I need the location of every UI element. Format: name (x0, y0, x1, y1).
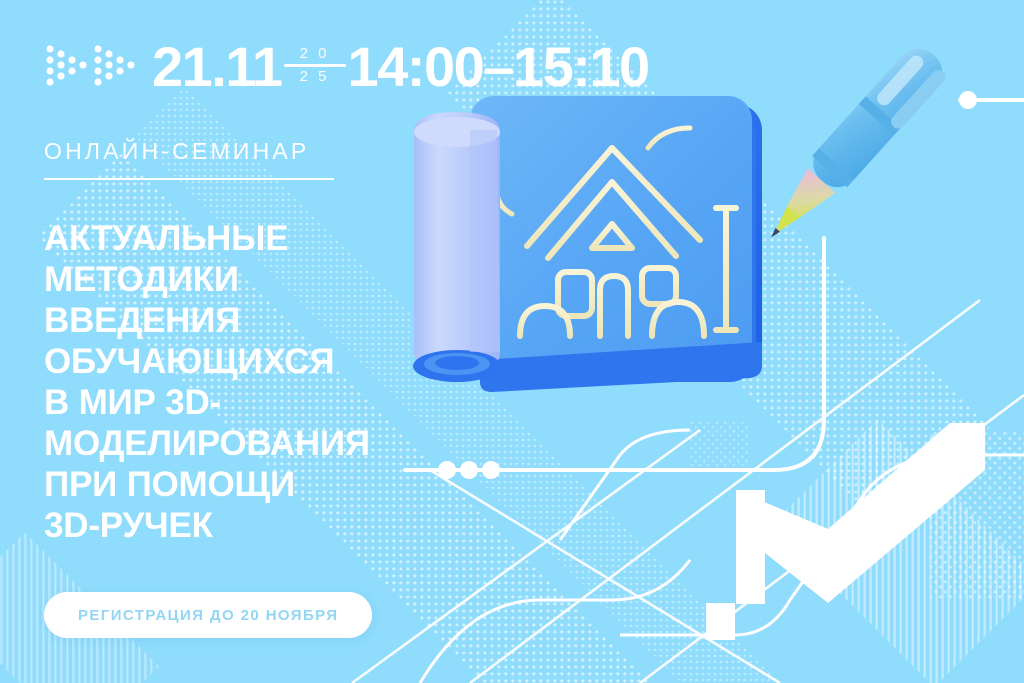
event-year-fraction: 2 0 2 5 (284, 45, 346, 85)
headline-line: АКТУАЛЬНЫЕ (44, 219, 464, 260)
headline-line: ПРИ ПОМОЩИ (44, 465, 464, 506)
kicker-block: ОНЛАЙН-СЕМИНАР (44, 140, 374, 180)
kicker-divider (44, 178, 334, 180)
headline-line: МЕТОДИКИ (44, 260, 464, 301)
year-bottom: 2 5 (300, 68, 330, 85)
3d-pen-icon (753, 40, 952, 253)
year-top: 2 0 (300, 45, 330, 62)
event-type-label: ОНЛАЙН-СЕМИНАР (44, 140, 374, 163)
event-time: 14:00–15:10 (348, 39, 649, 95)
year-divider (284, 64, 346, 67)
dotted-double-arrow-icon (44, 41, 136, 93)
headline-line: МОДЕЛИРОВАНИЯ (44, 424, 464, 465)
headline-line: ОБУЧАЮЩИХСЯ (44, 342, 464, 383)
header-row: 21.11 2 0 2 5 14:00–15:10 (44, 30, 649, 104)
page-title: АКТУАЛЬНЫЕ МЕТОДИКИ ВВЕДЕНИЯ ОБУЧАЮЩИХСЯ… (44, 219, 464, 547)
blueprint-sheet (470, 96, 762, 392)
registration-button[interactable]: РЕГИСТРАЦИЯ ДО 20 НОЯБРЯ (44, 592, 372, 638)
poster-canvas: 21.11 2 0 2 5 14:00–15:10 ОНЛАЙН-СЕМИНАР… (0, 0, 1024, 683)
event-date: 21.11 (152, 39, 282, 95)
headline-line: В МИР 3D- (44, 383, 464, 424)
headline-line: ВВЕДЕНИЯ (44, 301, 464, 342)
headline-line: 3D-РУЧЕК (44, 506, 464, 547)
registration-button-label: РЕГИСТРАЦИЯ ДО 20 НОЯБРЯ (78, 607, 338, 624)
